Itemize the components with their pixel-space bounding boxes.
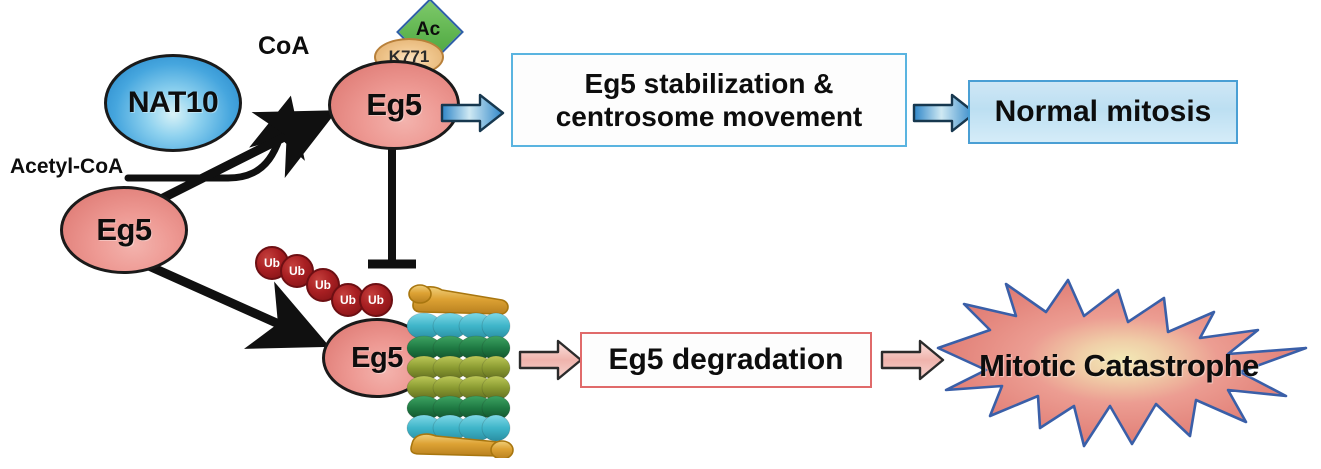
node-eg5-ubiquitinated-label: Eg5 [351,342,403,375]
node-nat10[interactable]: NAT10 [104,54,242,152]
label-acetyl-coa-text: Acetyl-CoA [10,155,123,178]
arrow-eg5-to-stabilization [440,92,506,134]
box-stabilization-line1: Eg5 stabilization & [556,67,863,100]
node-eg5-substrate[interactable]: Eg5 [60,186,188,274]
starburst-mitotic-catastrophe[interactable]: Mitotic Catastrophe [928,276,1310,456]
proteasome[interactable] [398,278,514,458]
ub-bead[interactable]: Ub [359,283,393,317]
box-normal-mitosis-label: Normal mitosis [995,95,1212,129]
box-stabilization[interactable]: Eg5 stabilization & centrosome movement [511,53,907,147]
arrow-proteasome-to-degradation [518,338,584,382]
box-stabilization-line2: centrosome movement [556,100,863,133]
ubiquitin-chain: Ub Ub Ub Ub Ub [255,246,405,316]
node-eg5-substrate-label: Eg5 [96,212,151,248]
starburst-label: Mitotic Catastrophe [928,276,1310,456]
label-coa: CoA [258,32,309,61]
box-eg5-degradation[interactable]: Eg5 degradation [580,332,872,388]
box-eg5-degradation-label: Eg5 degradation [608,343,843,377]
label-acetyl-coa: Acetyl-CoA [10,155,123,179]
node-nat10-label: NAT10 [128,86,218,120]
box-normal-mitosis[interactable]: Normal mitosis [968,80,1238,144]
label-coa-text: CoA [258,32,309,60]
figure-canvas: NAT10 Acetyl-CoA CoA Eg5 Ac K771 Eg5 [0,0,1321,469]
node-eg5-acetylated-label: Eg5 [366,87,421,123]
